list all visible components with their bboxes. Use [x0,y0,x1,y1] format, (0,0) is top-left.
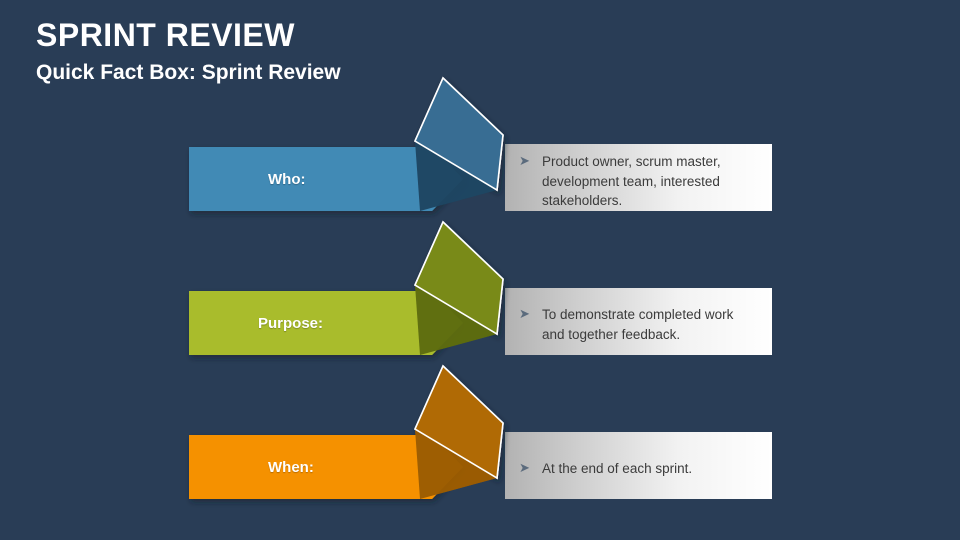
row-label-who: Who: [268,171,305,188]
bullet-icon-purpose: ➤ [519,305,530,324]
bullet-icon-when: ➤ [519,459,530,478]
fact-row-who[interactable]: Who: ➤ Product owner, scrum master, deve… [0,66,960,226]
ribbon-graphic-who [0,66,960,226]
page-title: SPRINT REVIEW [36,16,295,54]
row-text-purpose: To demonstrate completed work and togeth… [542,305,757,344]
row-label-purpose: Purpose: [258,315,323,332]
bullet-icon-who: ➤ [519,152,530,171]
row-text-who: Product owner, scrum master, development… [542,152,757,211]
ribbon-graphic-when [0,354,960,514]
slide-canvas: SPRINT REVIEW Quick Fact Box: Sprint Rev… [0,0,960,540]
fact-row-when[interactable]: When: ➤ At the end of each sprint. [0,354,960,514]
row-text-when: At the end of each sprint. [542,459,757,479]
ribbon-graphic-purpose [0,210,960,370]
fact-row-purpose[interactable]: Purpose: ➤ To demonstrate completed work… [0,210,960,370]
row-label-when: When: [268,459,314,476]
